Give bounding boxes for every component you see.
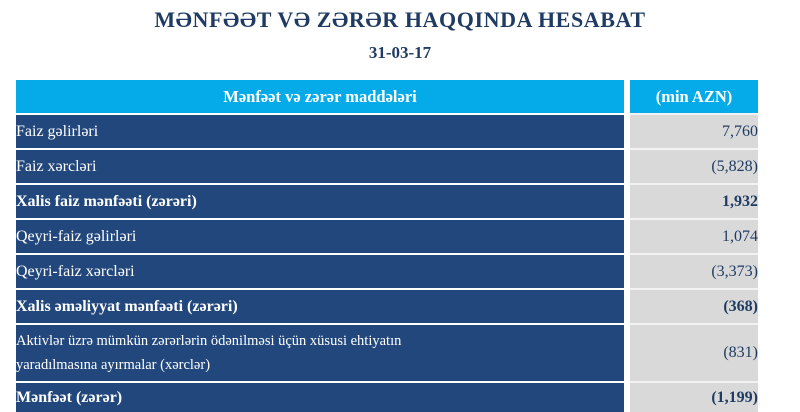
row-value: 1,074 [630, 218, 758, 253]
table-row-total: Xalis əməliyyat mənfəəti (zərəri) (368) [16, 288, 758, 323]
row-value: 7,760 [630, 113, 758, 148]
row-label: Qeyri-faiz gəlirləri [16, 218, 624, 253]
table-row: Faiz gəlirləri 7,760 [16, 113, 758, 148]
profit-loss-table: Mənfəət və zərər maddələri (min AZN) Fai… [16, 80, 758, 412]
row-value: (5,828) [630, 148, 758, 183]
row-value: (368) [630, 288, 758, 323]
row-value: 1,932 [630, 183, 758, 218]
report-page: MƏNFƏƏT VƏ ZƏRƏR HAQQINDA HESABAT 31-03-… [0, 0, 800, 401]
column-header-amount: (min AZN) [630, 80, 758, 113]
row-label: Aktivlər üzrə mümkün zərərlərin ödənilmə… [16, 323, 624, 381]
table-header-row: Mənfəət və zərər maddələri (min AZN) [16, 80, 758, 113]
row-label: Xalis faiz mənfəəti (zərəri) [16, 183, 624, 218]
row-value: (3,373) [630, 253, 758, 288]
title-block: MƏNFƏƏT VƏ ZƏRƏR HAQQINDA HESABAT 31-03-… [0, 0, 800, 64]
page-title: MƏNFƏƏT VƏ ZƏRƏR HAQQINDA HESABAT [0, 7, 800, 33]
table-row-total: Xalis faiz mənfəəti (zərəri) 1,932 [16, 183, 758, 218]
report-date: 31-03-17 [0, 42, 800, 64]
row-label-line-1: Aktivlər üzrə mümkün zərərlərin ödənilmə… [16, 329, 624, 353]
table-row: Qeyri-faiz gəlirləri 1,074 [16, 218, 758, 253]
row-label-line-2: yaradılmasına ayırmalar (xərclər) [16, 353, 624, 377]
row-label: Qeyri-faiz xərcləri [16, 253, 624, 288]
table-row: Aktivlər üzrə mümkün zərərlərin ödənilmə… [16, 323, 758, 381]
row-label: Xalis əməliyyat mənfəəti (zərəri) [16, 288, 624, 323]
row-label: Faiz gəlirləri [16, 113, 624, 148]
row-value: (831) [630, 323, 758, 381]
profit-loss-table-wrapper: Mənfəət və zərər maddələri (min AZN) Fai… [16, 80, 758, 412]
table-row: Qeyri-faiz xərcləri (3,373) [16, 253, 758, 288]
row-value: (1,199) [630, 381, 758, 412]
row-label: Mənfəət (zərər) [16, 381, 624, 412]
row-label: Faiz xərcləri [16, 148, 624, 183]
column-header-items: Mənfəət və zərər maddələri [16, 80, 624, 113]
table-row: Faiz xərcləri (5,828) [16, 148, 758, 183]
table-row-total: Mənfəət (zərər) (1,199) [16, 381, 758, 412]
